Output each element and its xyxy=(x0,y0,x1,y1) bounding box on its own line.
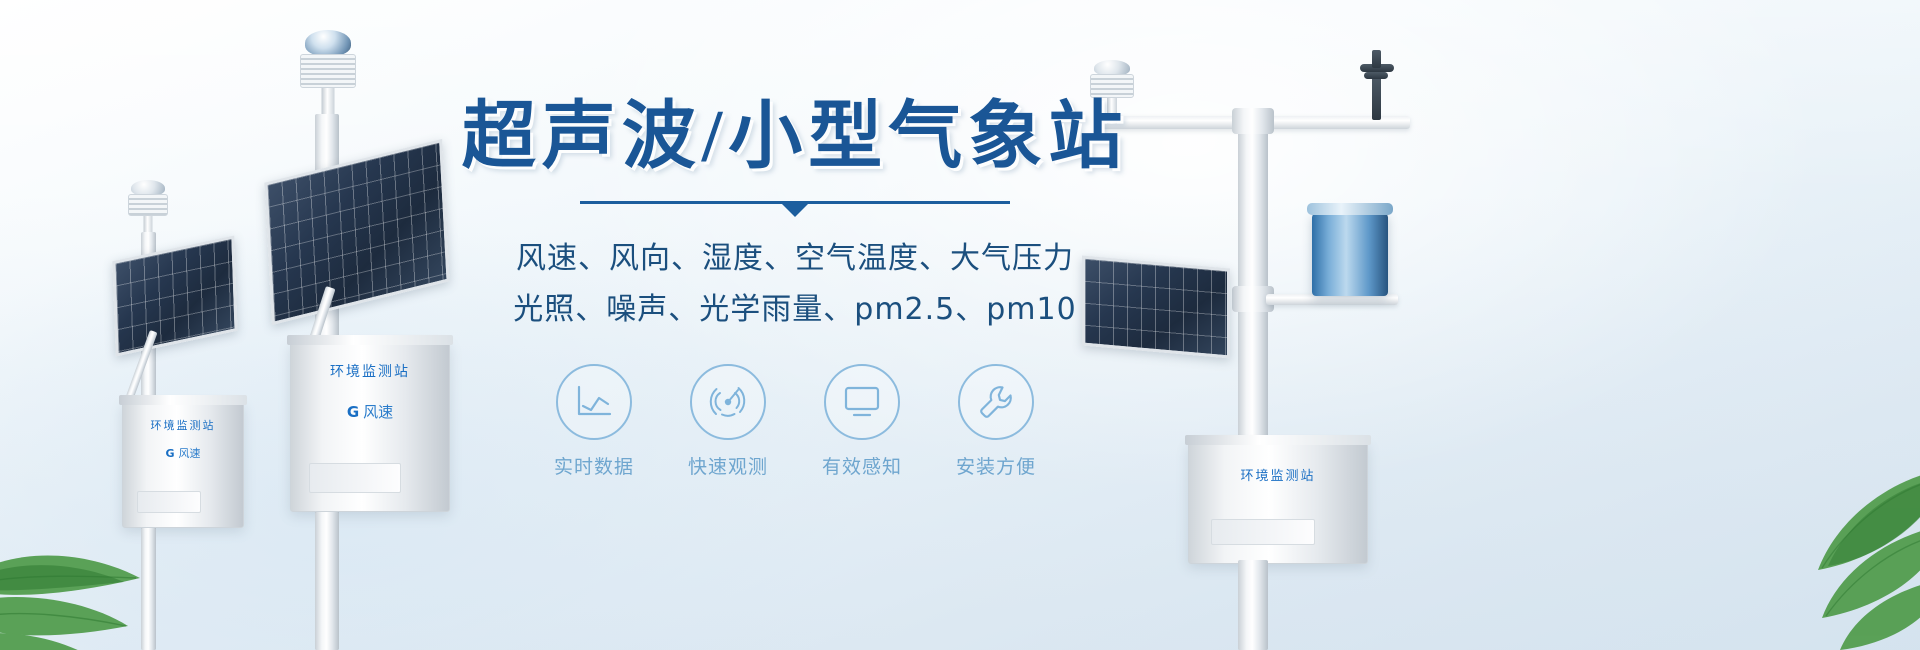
cabinet-label: 环境监测站 xyxy=(1240,465,1315,484)
equipment-cabinet: 环境监测站 G 风速 xyxy=(122,402,244,528)
equipment-cabinet: 环境监测站 xyxy=(1188,442,1368,564)
monitor-icon xyxy=(824,364,900,440)
ultrasonic-sensor-head-icon xyxy=(290,30,366,120)
brand-logo-mark: G xyxy=(347,403,359,421)
feature-list: 实时数据 快速观测 xyxy=(445,364,1145,479)
cabinet-label: 环境监测站 xyxy=(330,361,410,381)
ultrasonic-sensor-head-icon xyxy=(120,180,176,238)
cabinet-vent xyxy=(137,491,201,513)
wrench-icon xyxy=(958,364,1034,440)
feature-realtime-data[interactable]: 实时数据 xyxy=(548,364,640,479)
subtitle-line-1: 风速、风向、湿度、空气温度、大气压力 xyxy=(445,233,1145,285)
solar-panel xyxy=(112,235,237,356)
radar-signal-icon xyxy=(690,364,766,440)
cabinet-vent xyxy=(309,463,401,493)
solar-panel xyxy=(264,139,449,325)
product-banner: 环境监测站 G 风速 环境监测站 G 风速 xyxy=(0,0,1920,650)
feature-label: 快速观测 xyxy=(682,452,774,479)
cabinet-label: 环境监测站 xyxy=(151,417,216,433)
leaf-decoration-right-icon xyxy=(1670,430,1920,650)
feature-label: 实时数据 xyxy=(548,452,640,479)
brand-logo-text: 风速 xyxy=(363,401,393,422)
brand-logo-text: 风速 xyxy=(179,445,201,461)
station-left-small: 环境监测站 G 风速 xyxy=(108,180,268,650)
feature-effective-sensing[interactable]: 有效感知 xyxy=(816,364,908,479)
feature-label: 有效感知 xyxy=(816,452,908,479)
title-divider xyxy=(580,201,1010,217)
feature-label: 安装方便 xyxy=(950,452,1042,479)
equipment-cabinet: 环境监测站 G 风速 xyxy=(290,342,450,512)
mast-pole-base xyxy=(1238,560,1268,650)
cabinet-vent xyxy=(1211,519,1315,545)
feature-fast-observation[interactable]: 快速观测 xyxy=(682,364,774,479)
banner-text-block: 超声波/小型气象站 风速、风向、湿度、空气温度、大气压力 光照、噪声、光学雨量、… xyxy=(445,96,1145,479)
feature-easy-install[interactable]: 安装方便 xyxy=(950,364,1042,479)
brand-logo-mark: G xyxy=(165,447,174,460)
line-chart-icon xyxy=(556,364,632,440)
mast-pole-lower xyxy=(141,528,156,650)
triangle-down-icon xyxy=(782,204,808,217)
wind-vane-sensor-icon xyxy=(1356,50,1400,120)
mast-pole-lower xyxy=(315,512,339,650)
subtitle-line-2: 光照、噪声、光学雨量、pm2.5、pm10 xyxy=(445,284,1145,336)
rain-gauge xyxy=(1312,212,1388,296)
mast-collar xyxy=(1232,108,1274,134)
subtitle-group: 风速、风向、湿度、空气温度、大气压力 光照、噪声、光学雨量、pm2.5、pm10 xyxy=(445,233,1145,336)
page-title: 超声波/小型气象站 xyxy=(445,96,1145,179)
